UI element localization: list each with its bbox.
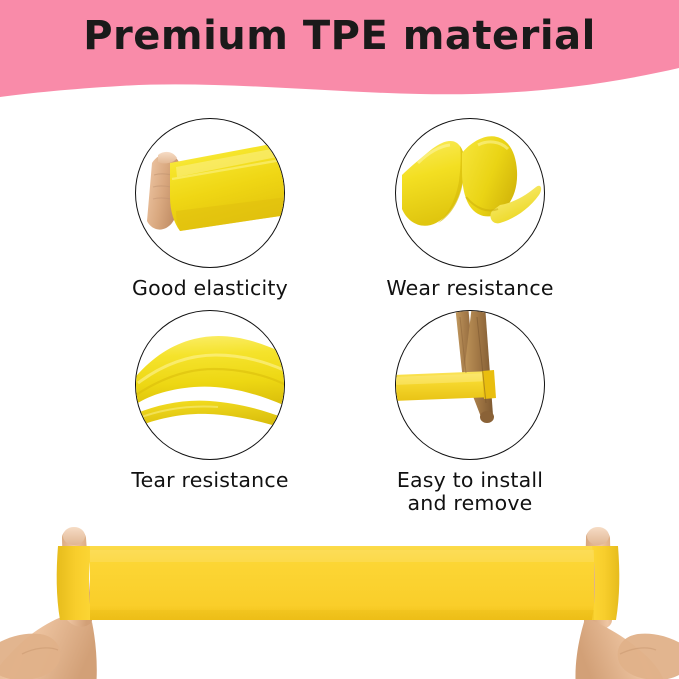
feature-tear-resistance: Tear resistance <box>70 310 350 492</box>
hero-band-scene <box>0 498 679 679</box>
twisted-band-illustration <box>136 311 284 459</box>
feature-caption-wear-resistance: Wear resistance <box>330 277 610 300</box>
feature-image-wear-resistance <box>395 118 545 268</box>
header-banner: Premium TPE material <box>0 0 679 110</box>
band-on-chair-legs-illustration <box>396 311 544 459</box>
feature-image-tear-resistance <box>135 310 285 460</box>
caption-line-1: Easy to install <box>397 468 543 492</box>
feature-caption-tear-resistance: Tear resistance <box>70 469 350 492</box>
hands-stretching-band-illustration <box>0 498 679 679</box>
page-title: Premium TPE material <box>0 13 679 59</box>
caption-line-1: Wear resistance <box>386 276 553 300</box>
hand-stretching-band-illustration <box>136 119 284 267</box>
feature-wear-resistance: Wear resistance <box>330 118 610 300</box>
feature-image-easy-install <box>395 310 545 460</box>
caption-line-1: Tear resistance <box>131 468 288 492</box>
feature-caption-good-elasticity: Good elasticity <box>70 277 350 300</box>
feature-image-good-elasticity <box>135 118 285 268</box>
folded-band-illustration <box>396 119 544 267</box>
feature-good-elasticity: Good elasticity <box>70 118 350 300</box>
feature-easy-install: Easy to install and remove <box>330 310 610 515</box>
caption-line-1: Good elasticity <box>132 276 288 300</box>
